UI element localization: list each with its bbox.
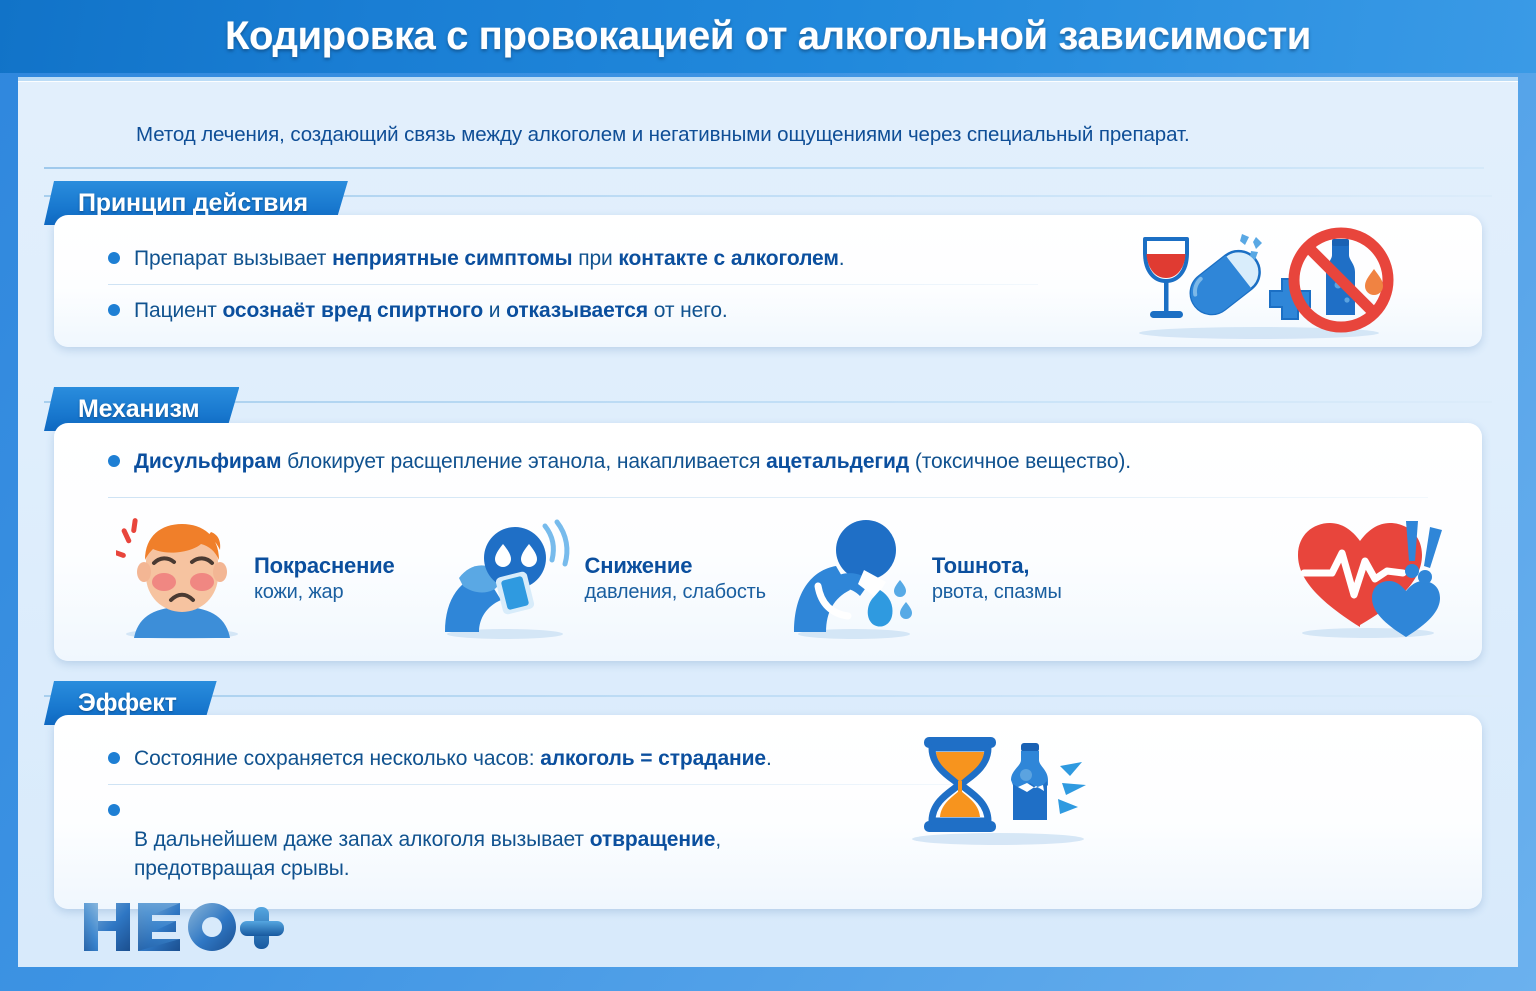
section-top-rule	[44, 401, 1492, 403]
section-effect: Эффект Состояние сохраняется несколько ч…	[44, 681, 1492, 725]
bullet-text: Состояние сохраняется несколько часов: а…	[134, 744, 772, 773]
bullet-text: Дисульфирам блокирует расщепление этанол…	[134, 447, 1131, 476]
page-title: Кодировка с провокацией от алкогольной з…	[225, 14, 1311, 59]
section-card-effect: Состояние сохраняется несколько часов: а…	[54, 715, 1482, 909]
bullet-dot-icon	[108, 752, 120, 764]
bullet-text: В дальнейшем даже запах алкоголя вызывае…	[134, 796, 721, 883]
intro-text: Метод лечения, создающий связь между алк…	[136, 123, 1436, 147]
content-panel: Метод лечения, создающий связь между алк…	[18, 77, 1518, 967]
neo-plus-logo	[80, 899, 286, 955]
motion-lines-icon	[545, 522, 567, 564]
principle-illustration	[1131, 223, 1396, 346]
splash-drops-icon	[894, 580, 912, 619]
list-item: Пациент осознаёт вред спиртного и отказы…	[108, 285, 1088, 337]
bullet-dot-icon	[108, 252, 120, 264]
symptom-label: Снижение давления, слабость	[585, 553, 766, 604]
wine-glass-icon	[1145, 239, 1187, 318]
row-divider	[108, 497, 1428, 498]
bullet-list-effect: Состояние сохраняется несколько часов: а…	[108, 733, 1008, 895]
hourglass-icon	[924, 737, 996, 832]
mechanism-lead-item: Дисульфирам блокирует расщепление этанол…	[108, 447, 1131, 476]
bullet-text: Пациент осознаёт вред спиртного и отказы…	[134, 296, 728, 325]
exclamation-icon	[1405, 521, 1442, 584]
dizzy-person-icon	[437, 516, 577, 642]
section-top-rule	[44, 695, 1492, 697]
list-item: Состояние сохраняется несколько часов: а…	[108, 733, 1008, 785]
header-banner: Кодировка с провокацией от алкогольной з…	[0, 0, 1536, 73]
bullet-dot-icon	[108, 804, 120, 816]
bullet-list-principle: Препарат вызывает неприятные симптомы пр…	[108, 233, 1088, 337]
mechanism-heart-illustration	[1294, 513, 1454, 646]
symptom-label: Покраснение кожи, жар	[254, 553, 395, 604]
section-card-principle: Препарат вызывает неприятные симптомы пр…	[54, 215, 1482, 347]
flushed-face-icon	[116, 516, 246, 642]
shatter-lines-icon	[1058, 762, 1086, 814]
section-mechanism: Механизм Дисульфирам блокирует расщеплен…	[44, 387, 1492, 431]
section-card-mechanism: Дисульфирам блокирует расщепление этанол…	[54, 423, 1482, 661]
no-alcohol-icon	[1294, 233, 1388, 327]
symptom-row: Покраснение кожи, жар	[64, 509, 1472, 649]
broken-bottle-icon	[1011, 743, 1086, 820]
vomiting-person-icon	[788, 516, 924, 642]
symptom-label: Тошнота, рвота, спазмы	[932, 553, 1062, 604]
bullet-text: Препарат вызывает неприятные симптомы пр…	[134, 244, 845, 273]
infographic-page: Кодировка с провокацией от алкогольной з…	[0, 0, 1536, 991]
effect-illustration	[902, 725, 1102, 852]
symptom-nausea: Тошнота, рвота, спазмы	[788, 516, 1062, 642]
list-item: Препарат вызывает неприятные симптомы пр…	[108, 233, 1088, 285]
intro-divider	[44, 167, 1484, 169]
heat-lines-icon	[116, 518, 138, 559]
list-item: В дальнейшем даже запах алкоголя вызывае…	[108, 785, 1008, 895]
symptom-low-pressure: Снижение давления, слабость	[437, 516, 766, 642]
bullet-dot-icon	[108, 304, 120, 316]
bullet-dot-icon	[108, 455, 120, 467]
symptom-flushed-skin: Покраснение кожи, жар	[116, 516, 395, 642]
section-principle: Принцип действия Препарат вызывает непри…	[44, 181, 1492, 225]
